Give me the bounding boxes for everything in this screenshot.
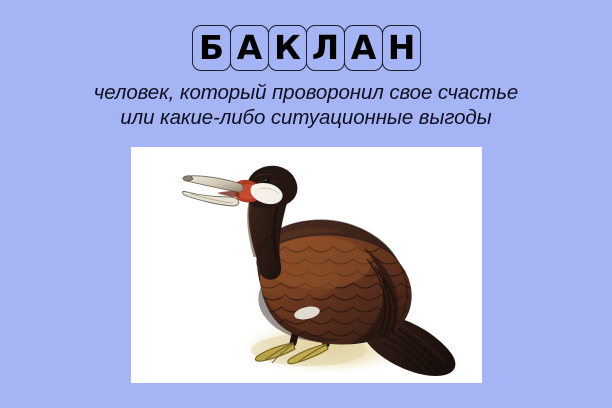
letter-tile: Л <box>306 25 345 71</box>
letter-tile-glyph: А <box>237 31 263 64</box>
letter-tile: Б <box>192 25 231 71</box>
letter-tile-glyph: А <box>351 31 377 64</box>
slide-canvas: Б А К Л А Н человек, который проворонил … <box>0 0 612 408</box>
word-tiles: Б А К Л А Н <box>0 25 612 73</box>
cormorant-illustration <box>131 147 482 383</box>
letter-tile: Н <box>382 25 421 71</box>
letter-tile-glyph: К <box>274 31 301 64</box>
letter-tile: К <box>268 25 307 71</box>
letter-tile-glyph: Л <box>312 31 339 64</box>
letter-tile: А <box>230 25 269 71</box>
definition-text: человек, который проворонил свое счастье… <box>0 80 612 130</box>
definition-line-1: человек, который проворонил свое счастье <box>0 80 612 105</box>
illustration-panel <box>131 147 482 383</box>
letter-tile-glyph: Н <box>388 31 416 64</box>
letter-tile: А <box>344 25 383 71</box>
bird-eye <box>264 178 269 183</box>
letter-tile-glyph: Б <box>199 31 224 64</box>
definition-line-2: или какие-либо ситуационные выгоды <box>0 105 612 130</box>
